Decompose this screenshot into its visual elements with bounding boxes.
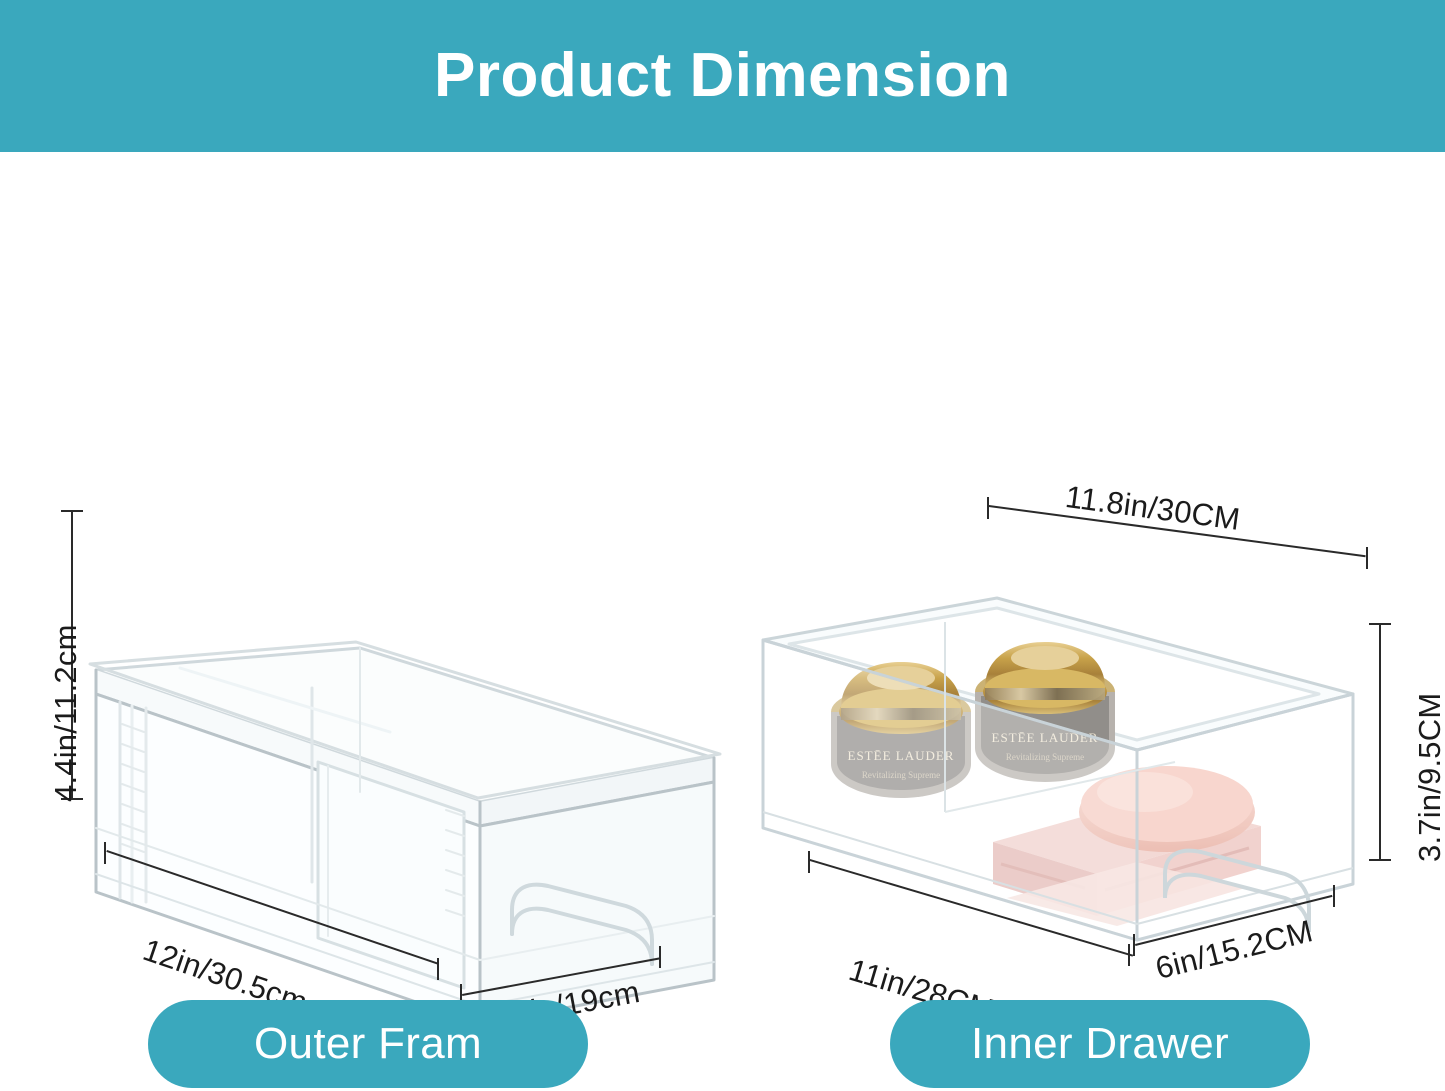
outer-frame-height-label: 4.4in/11.2cm	[48, 624, 84, 802]
inner-drawer-label-pill: Inner Drawer	[890, 1000, 1310, 1088]
outer-frame-label-pill: Outer Fram	[148, 1000, 588, 1088]
inner-drawer-height-label: 3.7in/9.5CM	[1412, 693, 1445, 862]
page-title: Product Dimension	[434, 45, 1011, 107]
diagram-stage: 4.4in/11.2cm 12in/30.5cm 7.5in/19cm	[0, 152, 1445, 1091]
header-bar: Product Dimension	[0, 0, 1445, 152]
inner-drawer-label: Inner Drawer	[971, 1019, 1229, 1069]
outer-frame-label: Outer Fram	[254, 1019, 482, 1069]
